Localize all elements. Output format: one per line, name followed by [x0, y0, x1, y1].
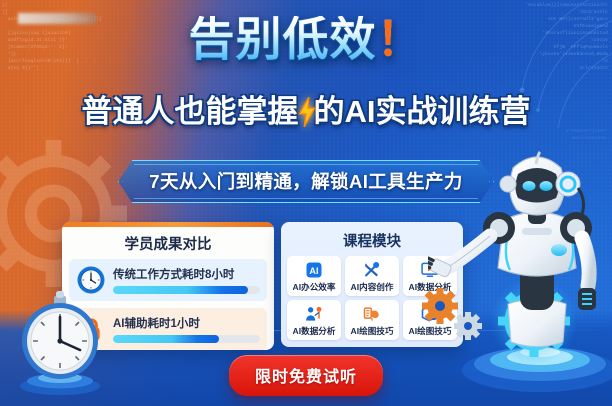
svg-text:AI: AI	[309, 266, 318, 276]
card-accent-strip	[62, 222, 274, 227]
free-trial-cta-button[interactable]: 限时免费试听	[229, 355, 383, 396]
progress-fill	[113, 335, 219, 343]
headline-exclamation: ！	[377, 13, 424, 65]
progress-fill	[113, 286, 248, 294]
module-tile-ai-draw-1[interactable]: AI绘图技巧	[345, 300, 399, 340]
person-chart-icon	[304, 304, 324, 324]
robot-illustration: AI	[428, 108, 612, 406]
metric-label-ai: AI辅助耗时1小时	[113, 315, 260, 331]
module-label: AI数据分析	[293, 325, 336, 337]
module-tile-ai-content[interactable]: AI内容创作	[345, 256, 399, 296]
headline-text: 告别低效	[189, 13, 377, 65]
subtitle-part-1: 普通人也能掌握	[82, 94, 299, 129]
page-title: 告别低效！	[0, 16, 612, 62]
promo-poster: }( )] ailsjsoetn:t{cperi:il360:t3Q})])} …	[0, 0, 612, 406]
metric-body: AI辅助耗时1小时	[113, 315, 260, 343]
progress-bar-ai	[113, 335, 260, 343]
module-label: AI绘图技巧	[351, 325, 394, 337]
metric-body: 传统工作方式耗时8小时	[113, 266, 260, 294]
module-label: AI办公效率	[293, 281, 336, 293]
results-card-title: 学员成果对比	[62, 233, 274, 254]
module-label: AI内容创作	[351, 281, 394, 293]
pen-microphone-icon	[362, 260, 382, 280]
metric-label-traditional: 传统工作方式耗时8小时	[113, 266, 260, 282]
progress-bar-traditional	[113, 286, 260, 294]
module-tile-ai-data-2[interactable]: AI数据分析	[287, 300, 341, 340]
stopwatch-icon	[4, 286, 116, 398]
module-tile-ai-office[interactable]: AI AI办公效率	[287, 256, 341, 296]
ai-badge-icon: AI	[304, 260, 324, 280]
lightning-bolt-icon	[297, 97, 317, 127]
hand-device-icon	[362, 304, 382, 324]
